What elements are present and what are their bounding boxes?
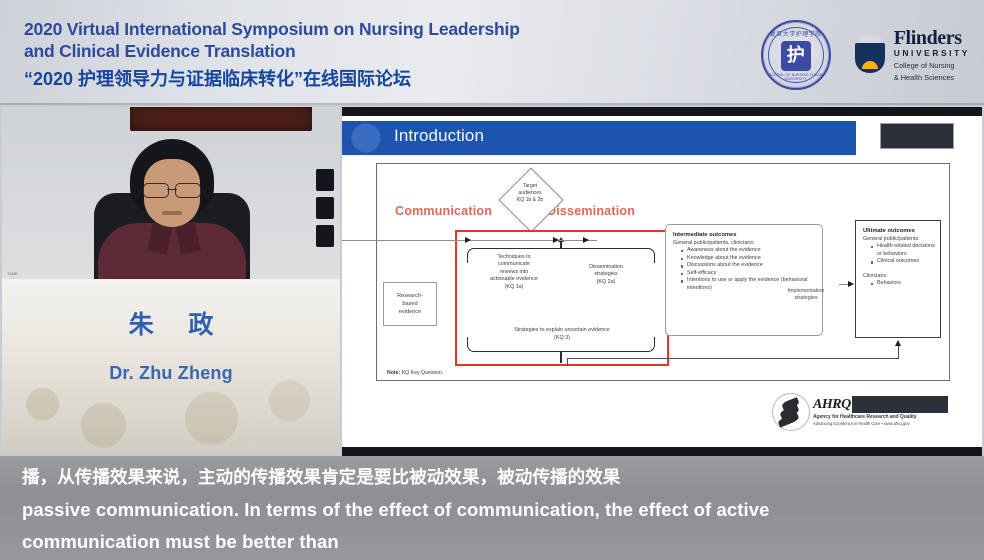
implementation-arrow [839, 284, 853, 285]
ahrq-logo: AHRQ Agency for Healthcare Research and … [772, 389, 948, 433]
implementation-strategies-label: Implementation strategies [769, 288, 843, 303]
kq3-text: Strategies to explain uncertain evidence… [469, 327, 655, 342]
diagram-note: Note: KQ Key Question. [387, 370, 443, 376]
flinders-university-word: UNIVERSITY [894, 48, 970, 58]
flinders-college-line2: & Health Sciences [894, 73, 970, 82]
intermediate-outcomes-box: Intermediate outcomes General public/pat… [665, 224, 823, 336]
caption-line-en-1: passive communication. In terms of the e… [0, 494, 984, 526]
highlighted-red-box: Techniques to communicate reviews into a… [455, 230, 669, 366]
impl-line-0: Implementation [769, 288, 843, 295]
ahrq-top-row: AHRQ [813, 396, 948, 413]
feedback-arrow-tip [895, 340, 901, 346]
seal-top-text: 复旦大学护理学院 [763, 29, 829, 38]
flinders-college-line1: College of Nursing [894, 61, 970, 70]
event-title-en-line1: 2020 Virtual International Symposium on … [24, 18, 664, 40]
webinar-screen: 2020 Virtual International Symposium on … [0, 0, 984, 560]
kq1a-text: Techniques to communicate reviews into a… [471, 254, 557, 291]
speaker-glasses-icon [143, 183, 201, 196]
hhs-seal-icon [772, 393, 808, 429]
event-header-banner: 2020 Virtual International Symposium on … [0, 0, 984, 105]
flinders-shield-icon [853, 35, 887, 75]
ultimate-heading: Ultimate outcomes [863, 228, 935, 234]
video-timecode: TIME [7, 271, 18, 276]
ahrq-wordmark: AHRQ Agency for Healthcare Research and … [813, 396, 948, 426]
ultimate-outcomes-box: Ultimate outcomes General public/patient… [855, 220, 941, 338]
arrow-tip-2 [553, 237, 559, 243]
analytic-framework-diagram: Communication Dissemination Target audie… [376, 163, 950, 381]
slide-bottom-band [342, 447, 982, 456]
ahrq-tagline-1: Agency for Healthcare Research and Quali… [813, 414, 948, 420]
kq1a-line-1: communicate [471, 261, 557, 268]
list-item: Discussions about the evidence [681, 262, 816, 270]
ultimate-list-1: Health-related decisions or behaviors Cl… [863, 243, 935, 266]
kq3-line-1: (KQ 3) [469, 335, 655, 342]
seal-bottom-text: SCHOOL OF NURSING FUDAN UNIVERSITY [763, 73, 829, 81]
note-text: KQ Key Question. [402, 370, 444, 376]
caption-line-en-2: communication must be better than [0, 526, 984, 558]
ahrq-tagline-2: Advancing Excellence in Health Care • ww… [813, 421, 948, 426]
ta-line-0: Target [499, 183, 561, 190]
slide-title-banner: Introduction [342, 121, 856, 155]
live-caption-bar: 播，从传播效果来说，主动的传播效果肯定是要比被动效果，被动传播的效果 passi… [0, 456, 984, 560]
intermediate-heading: Intermediate outcomes [673, 232, 816, 238]
ahrq-acronym: AHRQ [813, 396, 851, 413]
speaker-webcam-feed[interactable]: TIME [2, 107, 340, 279]
intermediate-subheading: General public/patients, clinicians: [673, 240, 816, 246]
ta-line-1: audiences [499, 190, 561, 197]
intermediate-list: Awareness about the evidence Knowledge a… [673, 247, 816, 293]
list-item: Awareness about the evidence [681, 247, 816, 255]
impl-line-1: strategies [769, 295, 843, 302]
background-shelf [316, 169, 334, 253]
flinders-university-logo: Flinders UNIVERSITY College of Nursing &… [853, 29, 970, 82]
kq1a-line-4: (KQ 1a) [471, 284, 557, 291]
target-audiences-node: Target audiences KQ 1b & 2b [499, 168, 561, 230]
list-item: Self-efficacy [681, 270, 816, 278]
kq2a-line-0: Dissemination [567, 264, 645, 271]
speaker-name-cn: 朱 政 [2, 305, 340, 341]
diagram-label-communication: Communication [395, 204, 492, 218]
feedback-loop-line [567, 358, 899, 359]
slide-corner-chip [880, 123, 954, 149]
arrow-tip-3 [583, 237, 589, 243]
arrow-tip-1 [465, 237, 471, 243]
research-based-evidence-box: Research- based evidence [383, 282, 437, 326]
list-item: Health-related decisions or behaviors [871, 243, 935, 258]
kq2a-line-1: strategies [567, 271, 645, 278]
kq3-line-0: Strategies to explain uncertain evidence [469, 327, 655, 334]
presentation-slide-pane[interactable]: Introduction Communication Dissemination… [342, 107, 982, 447]
kq2a-line-2: (KQ 2a) [567, 279, 645, 286]
ultimate-subheading-2: Clinicians: [863, 273, 935, 279]
event-title: 2020 Virtual International Symposium on … [24, 18, 664, 92]
speaker-name-en: Dr. Zhu Zheng [2, 363, 340, 384]
ultimate-list-2: Behaviors [863, 280, 935, 288]
event-title-en-line2: and Clinical Evidence Translation [24, 40, 664, 62]
list-item: Clinical outcomes [871, 258, 935, 266]
kq2a-text: Dissemination strategies (KQ 2a) [567, 264, 645, 286]
caption-line-cn: 播，从传播效果来说，主动的传播效果肯定是要比被动效果，被动传播的效果 [0, 456, 984, 494]
header-logos: 复旦大学护理学院 护 SCHOOL OF NURSING FUDAN UNIVE… [761, 14, 970, 96]
rbe-line-2: evidence [384, 308, 436, 316]
banner-watermark [348, 123, 384, 153]
ta-line-2: KQ 1b & 2b [499, 197, 561, 204]
flow-arrow-line [342, 240, 597, 241]
speaker-shirt [98, 223, 246, 279]
note-label: Note: [387, 370, 400, 376]
flinders-name: Flinders [894, 29, 970, 48]
flinders-wordmark: Flinders UNIVERSITY College of Nursing &… [894, 29, 970, 82]
list-item: Knowledge about the evidence [681, 255, 816, 263]
seal-center-glyph: 护 [781, 41, 811, 71]
speaker-video-pane[interactable]: TIME 朱 政 Dr. Zhu Zheng [2, 107, 340, 453]
slide-top-band [342, 107, 982, 116]
chinese-nursing-school-seal-icon: 复旦大学护理学院 护 SCHOOL OF NURSING FUDAN UNIVE… [761, 20, 831, 90]
kq1a-line-2: reviews into [471, 269, 557, 276]
slide-title: Introduction [394, 126, 484, 146]
rbe-line-0: Research- [384, 292, 436, 300]
kq1a-line-3: actionable evidence [471, 276, 557, 283]
wall-plaque [130, 107, 312, 131]
kq1a-line-0: Techniques to [471, 254, 557, 261]
rbe-line-1: based [384, 300, 436, 308]
target-audiences-text: Target audiences KQ 1b & 2b [499, 183, 561, 204]
ultimate-subheading-1: General public/patients: [863, 236, 935, 242]
speaker-mouth [162, 211, 182, 215]
list-item: Behaviors [871, 280, 935, 288]
ahrq-dark-bar [852, 396, 948, 413]
speaker-name-card: 朱 政 Dr. Zhu Zheng [2, 279, 340, 453]
event-title-cn: “2020 护理领导力与证据临床转化”在线国际论坛 [24, 66, 664, 92]
